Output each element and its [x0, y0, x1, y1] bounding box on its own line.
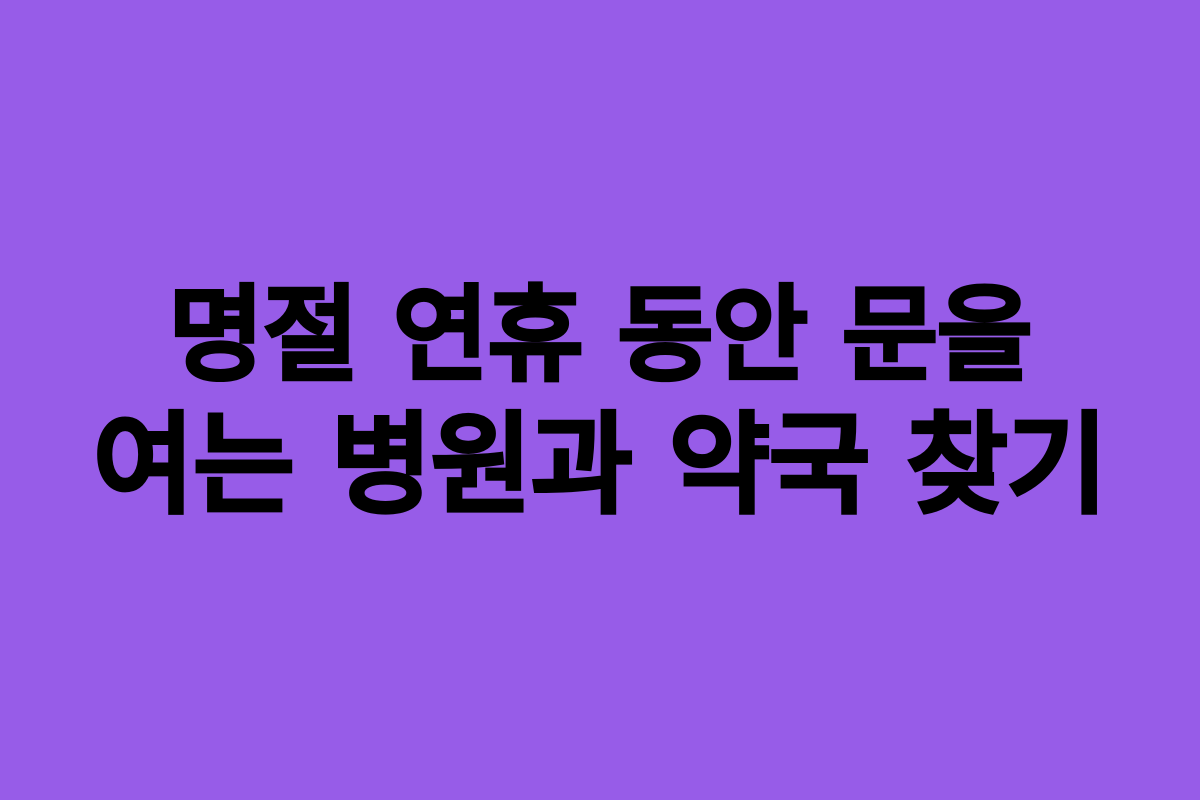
- headline-block: 명절 연휴 동안 문을 여는 병원과 약국 찾기: [0, 270, 1200, 530]
- headline-line-1: 명절 연휴 동안 문을: [168, 270, 1031, 400]
- headline-line-2: 여는 병원과 약국 찾기: [93, 400, 1107, 530]
- thumbnail-canvas: 명절 연휴 동안 문을 여는 병원과 약국 찾기: [0, 0, 1200, 800]
